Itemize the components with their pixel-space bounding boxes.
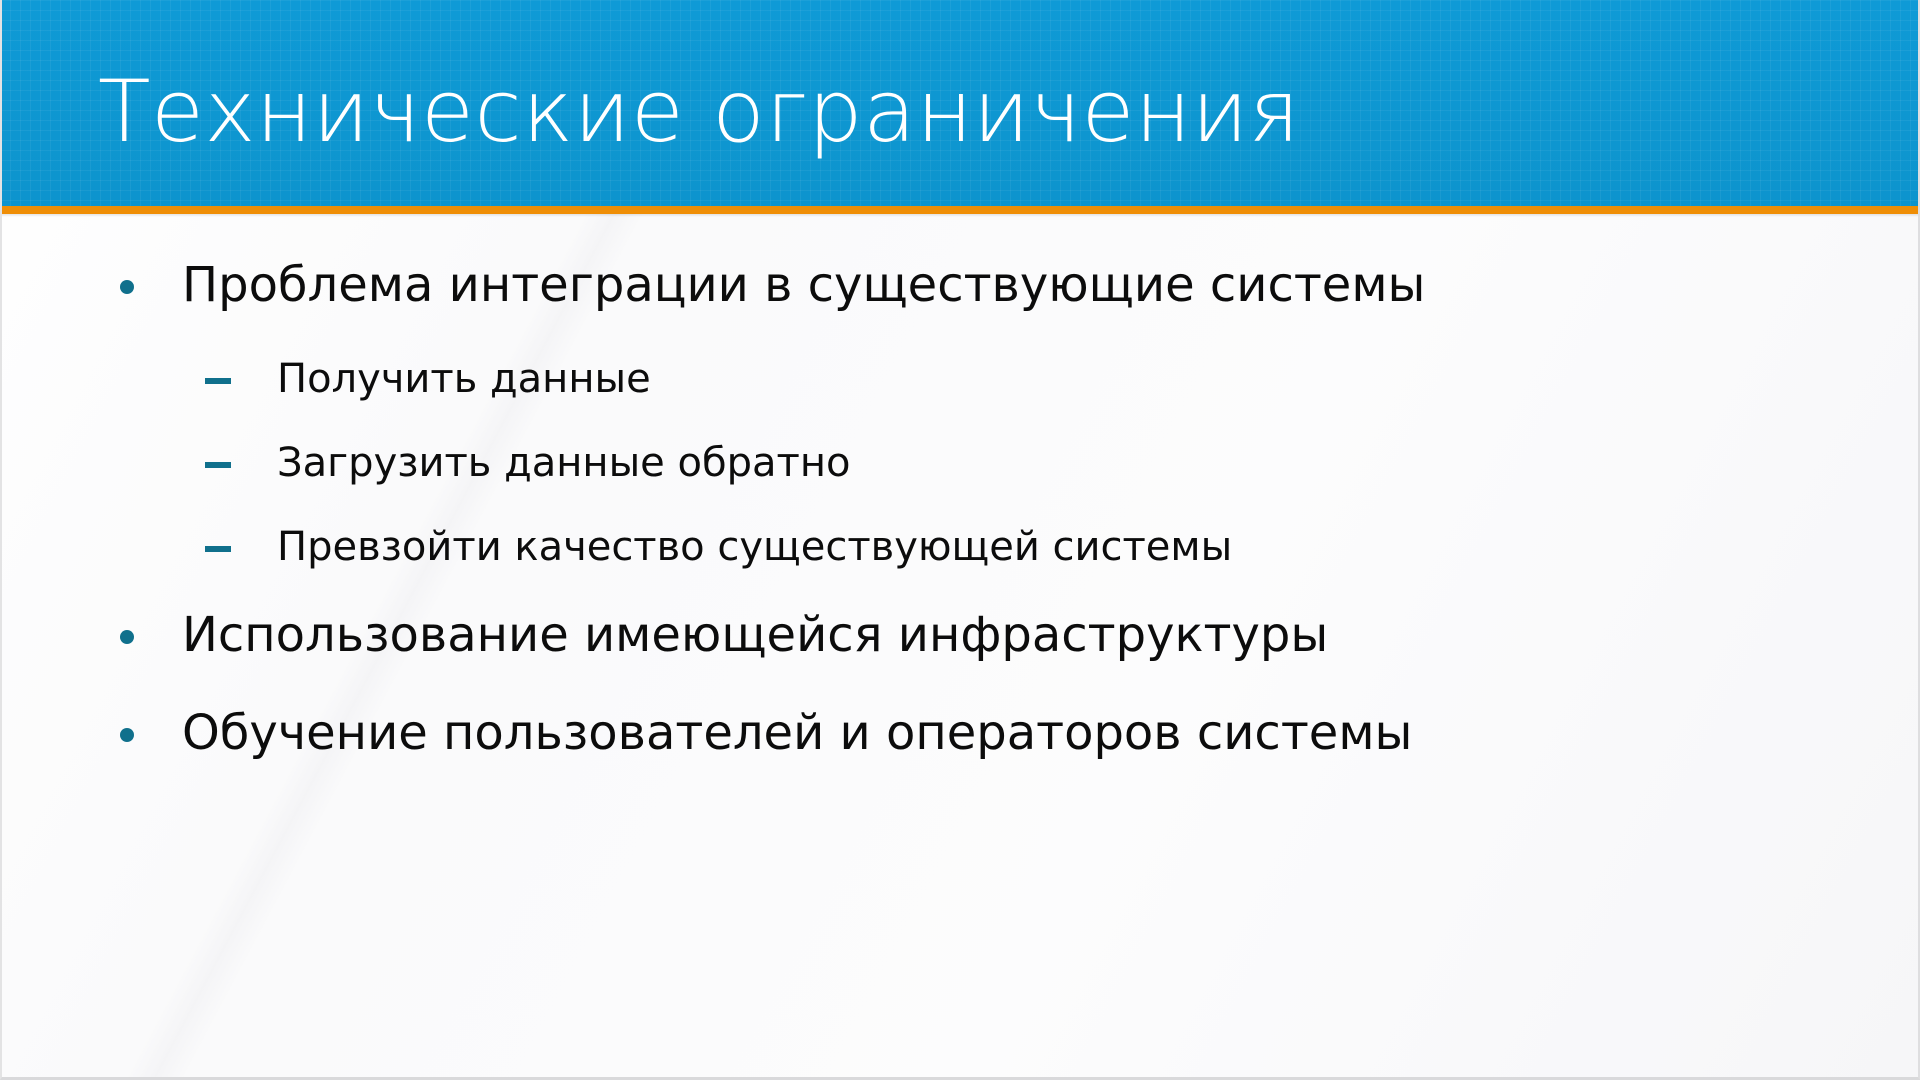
bullet-dot-icon [120,728,134,742]
slide-content-list: Проблема интеграции в существующие систе… [0,252,1920,798]
list-item-label: Загрузить данные обратно [277,434,1920,492]
bullet-dash-icon [205,546,231,552]
list-item[interactable]: Использование имеющейся инфраструктуры [0,602,1920,700]
header-accent-rule [0,206,1920,214]
list-item[interactable]: Превзойти качество существующей системы [0,518,1920,602]
slide-header-band: Технические ограничения [0,0,1920,206]
slide-title: Технические ограничения [98,60,1798,164]
bullet-dot-icon [120,630,134,644]
list-item[interactable]: Получить данные [0,350,1920,434]
list-item-label: Получить данные [277,350,1920,408]
list-item[interactable]: Загрузить данные обратно [0,434,1920,518]
bullet-dash-icon [205,378,231,384]
list-item[interactable]: Обучение пользователей и операторов сист… [0,700,1920,798]
presentation-slide: Технические ограничения Проблема интегра… [0,0,1920,1080]
header-rule-shadow [0,214,1920,217]
list-item-label: Обучение пользователей и операторов сист… [182,700,1920,766]
list-item-label: Превзойти качество существующей системы [277,518,1920,576]
bullet-dash-icon [205,462,231,468]
list-item[interactable]: Проблема интеграции в существующие систе… [0,252,1920,350]
bullet-dot-icon [120,280,134,294]
list-item-label: Проблема интеграции в существующие систе… [182,252,1920,318]
list-item-label: Использование имеющейся инфраструктуры [182,602,1920,668]
